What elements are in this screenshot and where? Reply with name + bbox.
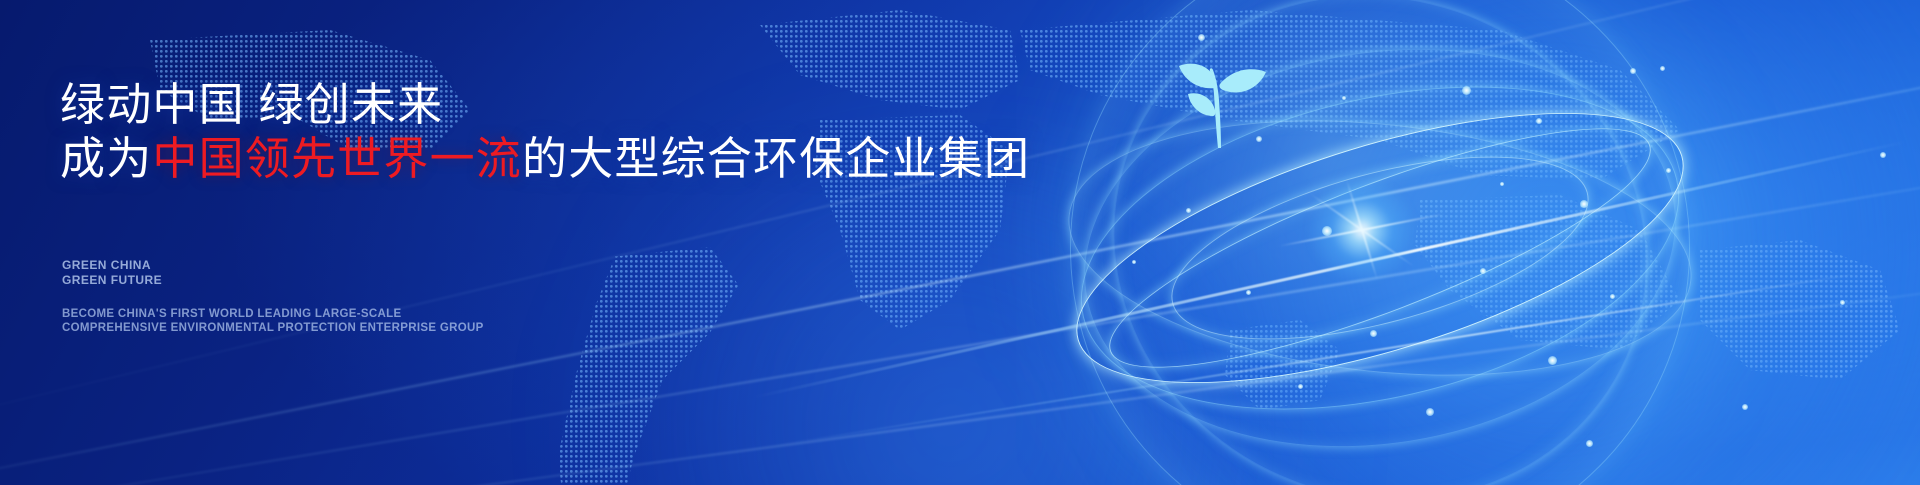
- particle: [1666, 168, 1671, 173]
- particle: [1880, 152, 1886, 158]
- globe-graphic: [1070, 0, 1690, 485]
- tagline-line-1: GREEN CHINA: [62, 258, 162, 273]
- particle: [1462, 86, 1471, 95]
- headline: 绿动中国 绿创未来 成为中国领先世界一流的大型综合环保企业集团: [60, 78, 1030, 186]
- copy-block: 绿动中国 绿创未来 成为中国领先世界一流的大型综合环保企业集团 GREEN CH…: [60, 0, 1060, 485]
- particle: [1298, 384, 1303, 389]
- tagline: GREEN CHINA GREEN FUTURE: [62, 258, 162, 287]
- particle: [1426, 408, 1434, 416]
- hero-banner: 绿动中国 绿创未来 成为中国领先世界一流的大型综合环保企业集团 GREEN CH…: [0, 0, 1920, 485]
- particle: [1198, 34, 1205, 41]
- headline-line-2-suffix: 的大型综合环保企业集团: [522, 133, 1030, 184]
- headline-line-2-prefix: 成为: [60, 133, 152, 184]
- particle: [1256, 136, 1262, 142]
- particle: [1536, 118, 1542, 124]
- particle: [1840, 300, 1845, 305]
- particle: [1630, 68, 1636, 74]
- particle: [1246, 290, 1251, 295]
- particle: [1186, 208, 1191, 213]
- headline-line-1: 绿动中国 绿创未来: [60, 79, 443, 130]
- particle: [1322, 226, 1332, 236]
- headline-line-2-highlight: 中国领先世界一流: [152, 133, 522, 184]
- particle: [1132, 260, 1136, 264]
- tagline-line-2: GREEN FUTURE: [62, 273, 162, 288]
- particle: [1742, 404, 1748, 410]
- particle: [1500, 182, 1504, 186]
- particle: [1660, 66, 1665, 71]
- blurb-line-1: BECOME CHINA'S FIRST WORLD LEADING LARGE…: [62, 308, 484, 322]
- particle: [1480, 268, 1486, 274]
- particle: [1548, 356, 1557, 365]
- particle: [1586, 440, 1593, 447]
- particle: [1610, 294, 1615, 299]
- blurb-line-2: COMPREHENSIVE ENVIRONMENTAL PROTECTION E…: [62, 322, 484, 336]
- particle: [1370, 330, 1377, 337]
- headline-line-2: 成为中国领先世界一流的大型综合环保企业集团: [60, 132, 1030, 186]
- particle: [1580, 200, 1588, 208]
- particle: [1342, 96, 1346, 100]
- blurb: BECOME CHINA'S FIRST WORLD LEADING LARGE…: [62, 308, 484, 335]
